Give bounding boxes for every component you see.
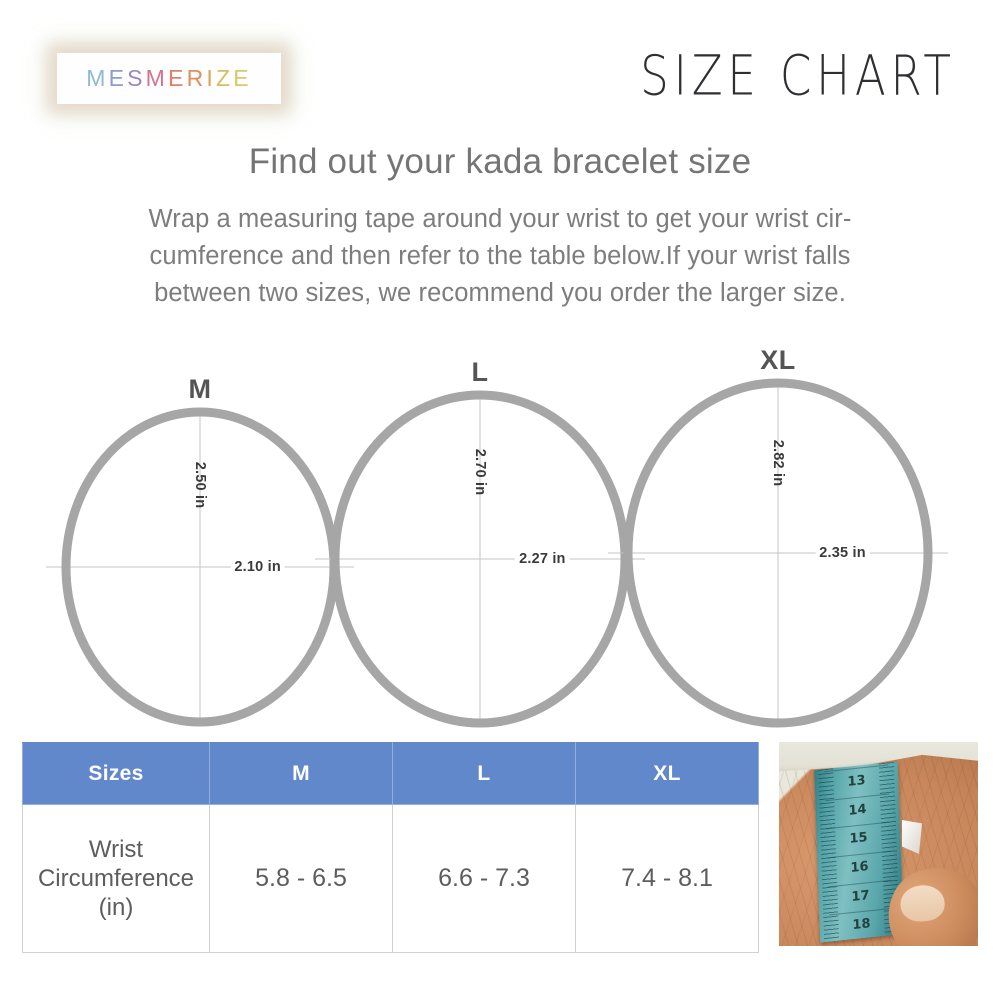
cell-l-range: 6.6 - 7.3	[393, 805, 576, 953]
row-label-wrist-circumference: Wrist Circumference (in)	[23, 805, 210, 953]
size-table: Sizes M L XL Wrist Circumference (in) 5.…	[22, 742, 759, 953]
wrist-measuring-photo: 131415161718	[779, 742, 978, 946]
table-header-m: M	[210, 743, 393, 805]
table-header-sizes: Sizes	[23, 743, 210, 805]
intro-line-2: cumference and then refer to the table b…	[45, 238, 955, 275]
oval-height-label-xl: 2.82 in	[770, 440, 786, 487]
table-header-l: L	[393, 743, 576, 805]
tape-ticks-left	[818, 768, 839, 942]
brand-letter-8: E	[233, 65, 252, 92]
page-title: SIZE CHART	[640, 44, 956, 109]
oval-size-label-l: L	[472, 357, 489, 388]
brand-letter-4: E	[168, 65, 187, 92]
brand-letter-0: M	[86, 65, 108, 92]
oval-height-label-m: 2.50 in	[192, 462, 208, 509]
oval-width-label-m: 2.10 in	[230, 559, 285, 575]
intro-line-3: between two sizes, we recommend you orde…	[45, 275, 955, 312]
oval-shape-xl	[589, 344, 967, 762]
tape-number-15: 15	[849, 830, 868, 847]
oval-size-label-xl: XL	[760, 345, 796, 376]
oval-size-label-m: M	[189, 374, 212, 405]
intro-line-1: Wrap a measuring tape around your wrist …	[45, 201, 955, 238]
table-row: Wrist Circumference (in) 5.8 - 6.5 6.6 -…	[23, 805, 759, 953]
tape-number-18: 18	[852, 917, 871, 934]
row-label-line-2: Circumference	[38, 865, 194, 892]
brand-logo: MESMERIZE	[57, 53, 281, 104]
oval-width-label-xl: 2.35 in	[815, 545, 870, 561]
brand-letter-6: I	[206, 65, 216, 92]
table-header-row: Sizes M L XL	[23, 743, 759, 805]
size-diagram-row: M2.50 in2.10 inL2.70 in2.27 inXL2.82 in2…	[0, 340, 1000, 740]
photo-thumbnail	[899, 884, 945, 923]
brand-letter-1: E	[109, 65, 128, 92]
tape-number-14: 14	[848, 802, 867, 819]
cell-m-range: 5.8 - 6.5	[210, 805, 393, 953]
tape-number-16: 16	[850, 859, 869, 876]
brand-letter-5: R	[187, 65, 207, 92]
oval-height-label-l: 2.70 in	[472, 449, 488, 496]
intro-paragraph: Wrap a measuring tape around your wrist …	[45, 201, 955, 312]
tape-number-13: 13	[847, 773, 866, 790]
table-header-xl: XL	[576, 743, 759, 805]
intro-block: Find out your kada bracelet size Wrap a …	[0, 144, 1000, 312]
row-label-line-3: (in)	[99, 894, 134, 921]
oval-width-label-l: 2.27 in	[515, 551, 570, 567]
tape-number-17: 17	[851, 888, 870, 905]
brand-letter-2: S	[127, 65, 146, 92]
brand-letter-3: M	[146, 65, 168, 92]
headline: Find out your kada bracelet size	[0, 144, 1000, 179]
brand-letter-7: Z	[216, 65, 233, 92]
row-label-line-1: Wrist	[89, 836, 143, 863]
cell-xl-range: 7.4 - 8.1	[576, 805, 759, 953]
oval-figure-xl: XL2.82 in2.35 in	[589, 344, 967, 762]
brand-name: MESMERIZE	[86, 65, 252, 92]
